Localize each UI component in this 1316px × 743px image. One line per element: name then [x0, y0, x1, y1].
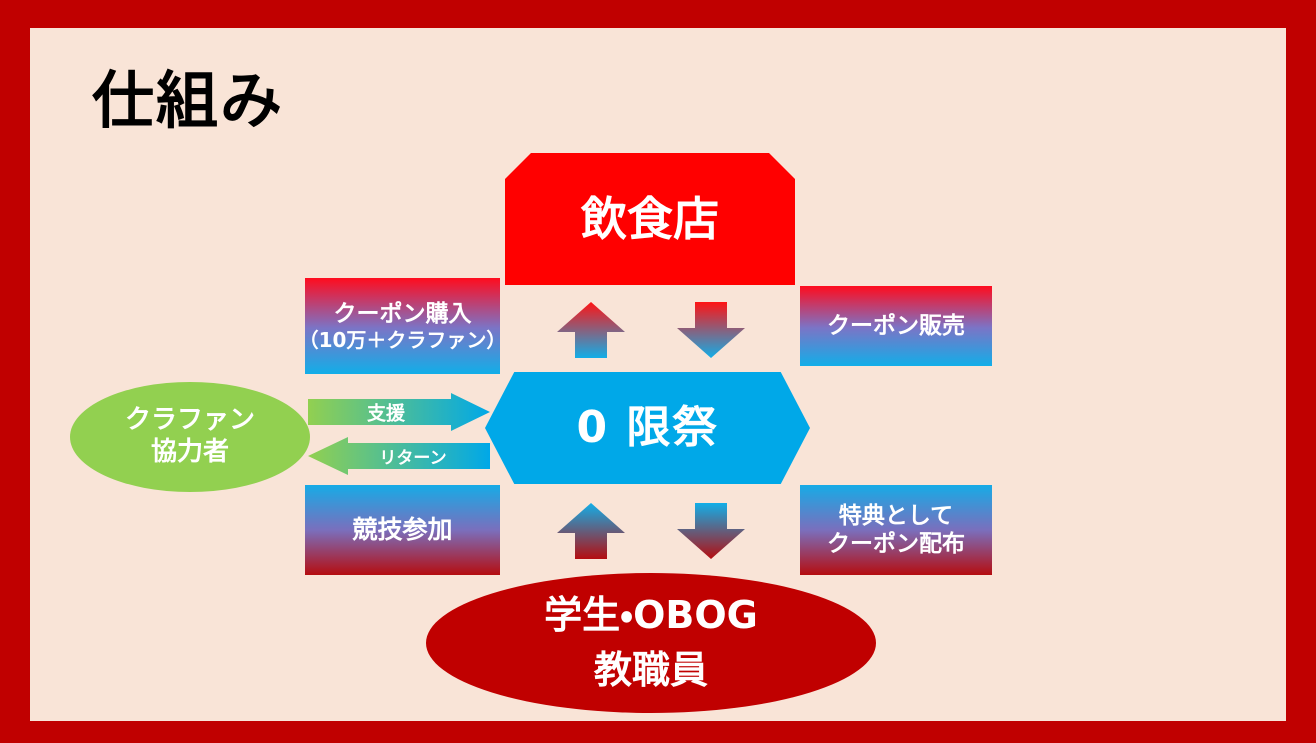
slide-canvas: 仕組み 飲食店 0 限祭 クラファン 協力者 学生・OBOG 教職員 クーポ: [30, 28, 1286, 721]
label-coupon-purchase-text: クーポン購入 （10万＋クラファン）: [299, 300, 507, 352]
node-students-label: 学生・OBOG 教職員: [544, 588, 758, 698]
label-coupon-distribution: 特典として クーポン配布: [800, 485, 992, 575]
slide-frame: 仕組み 飲食店 0 限祭 クラファン 協力者 学生・OBOG 教職員 クーポ: [0, 0, 1316, 743]
arrow-support: 支援: [308, 393, 490, 431]
label-coupon-purchase: クーポン購入 （10万＋クラファン）: [305, 278, 500, 374]
node-students-line2: 教職員: [544, 643, 758, 698]
label-coupon-sale: クーポン販売: [800, 286, 992, 366]
node-backers-line2: 協力者: [125, 437, 255, 469]
arrow-down-restaurant-icon: [675, 300, 747, 360]
label-coupon-sale-text: クーポン販売: [827, 312, 965, 340]
label-contest-participation: 競技参加: [305, 485, 500, 575]
node-students-line1: 学生・OBOG: [544, 588, 758, 643]
arrow-up-students-icon: [555, 501, 627, 561]
label-contest-participation-text: 競技参加: [352, 515, 452, 546]
label-coupon-purchase-line2: （10万＋クラファン）: [299, 328, 507, 352]
node-backers-line1: クラファン: [125, 405, 255, 437]
page-title: 仕組み: [92, 70, 284, 132]
node-festival: 0 限祭: [485, 372, 810, 484]
node-restaurant-label: 飲食店: [581, 191, 719, 247]
node-backers-label: クラファン 協力者: [125, 405, 255, 468]
label-coupon-distribution-text: 特典として クーポン配布: [827, 502, 965, 558]
node-students-staff: 学生・OBOG 教職員: [426, 573, 876, 713]
label-coupon-distribution-line2: クーポン配布: [827, 530, 965, 558]
node-restaurant: 飲食店: [505, 153, 795, 285]
label-coupon-purchase-line1: クーポン購入: [299, 300, 507, 328]
arrow-down-students-icon: [675, 501, 747, 561]
arrow-return: リターン: [308, 436, 490, 476]
arrow-up-restaurant-icon: [555, 300, 627, 360]
node-festival-label: 0 限祭: [577, 401, 719, 455]
label-coupon-distribution-line1: 特典として: [827, 502, 965, 530]
node-crowdfunding-backers: クラファン 協力者: [70, 382, 310, 492]
